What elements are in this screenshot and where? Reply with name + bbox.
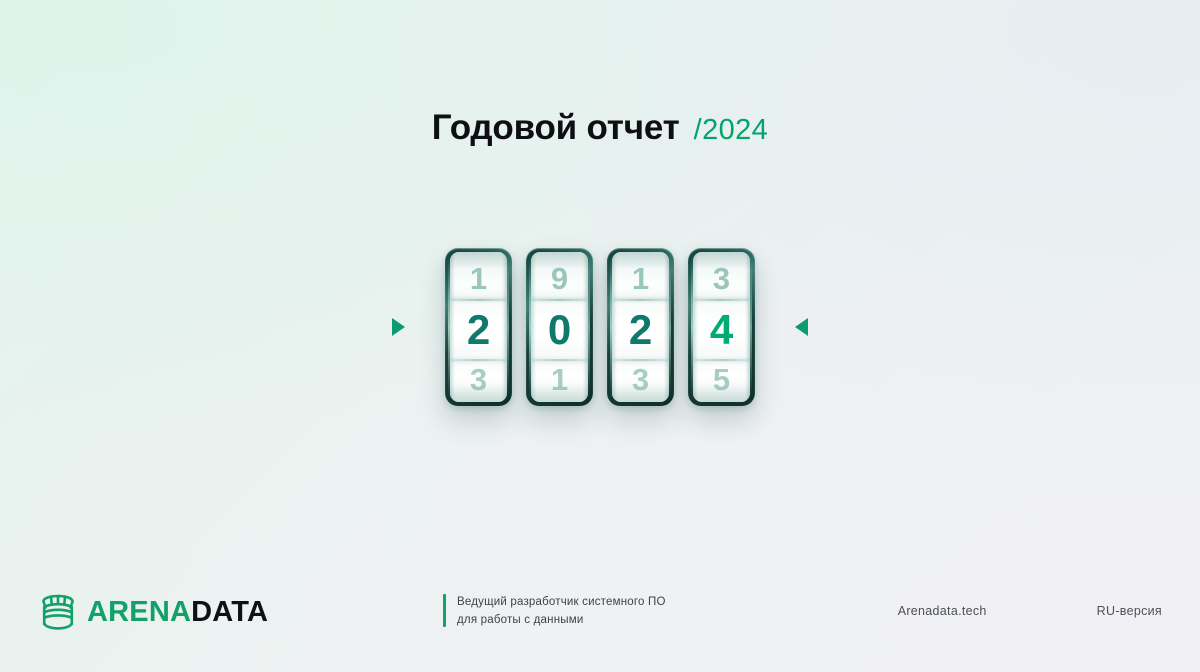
dial-seam bbox=[531, 359, 588, 361]
site-link[interactable]: Arenadata.tech bbox=[898, 604, 987, 618]
play-triangle-left-icon bbox=[795, 318, 808, 336]
dial-digit-next: 5 bbox=[693, 360, 750, 402]
language-switch[interactable]: RU-версия bbox=[1097, 604, 1162, 618]
logo-word-data: DATA bbox=[191, 596, 268, 628]
dial-digit-next: 3 bbox=[450, 360, 507, 402]
counter-dial[interactable]: 1 2 3 bbox=[607, 248, 674, 406]
logo-word-arena: ARENA bbox=[87, 596, 191, 628]
footer-tagline: Ведущий разработчик системного ПО для ра… bbox=[443, 594, 666, 630]
dial-digit-previous: 1 bbox=[450, 252, 507, 300]
arenadata-database-logo-icon bbox=[38, 592, 80, 632]
dial-digit-next: 1 bbox=[531, 360, 588, 402]
dial-seam bbox=[450, 299, 507, 301]
dial-digit-current: 2 bbox=[450, 300, 507, 360]
footer-meta: Arenadata.tech RU-версия bbox=[898, 604, 1162, 618]
play-triangle-right-icon bbox=[392, 318, 405, 336]
tagline-accent-bar bbox=[443, 594, 446, 627]
arenadata-logo[interactable]: ARENADATA bbox=[38, 592, 268, 632]
dial-seam bbox=[693, 299, 750, 301]
counter-dial[interactable]: 9 0 1 bbox=[526, 248, 593, 406]
dial-digit-previous: 3 bbox=[693, 252, 750, 300]
dial-digit-current: 4 bbox=[693, 300, 750, 360]
year-counter: 1 2 3 9 0 1 1 2 3 bbox=[0, 248, 1200, 406]
dial-seam bbox=[612, 359, 669, 361]
page-title-main: Годовой отчет bbox=[432, 108, 680, 148]
dial-seam bbox=[450, 359, 507, 361]
page-title: Годовой отчет /2024 bbox=[0, 108, 1200, 148]
logo-wordmark: ARENADATA bbox=[87, 598, 268, 627]
tagline-line-2: для работы с данными bbox=[457, 614, 583, 626]
counter-dial[interactable]: 1 2 3 bbox=[445, 248, 512, 406]
tagline-text: Ведущий разработчик системного ПО для ра… bbox=[457, 594, 666, 630]
dial-seam bbox=[612, 299, 669, 301]
dial-seam bbox=[693, 359, 750, 361]
tagline-line-1: Ведущий разработчик системного ПО bbox=[457, 596, 666, 608]
dial-digit-current: 2 bbox=[612, 300, 669, 360]
dial-digit-current: 0 bbox=[531, 300, 588, 360]
dial-seam bbox=[531, 299, 588, 301]
dial-digit-next: 3 bbox=[612, 360, 669, 402]
counter-dial[interactable]: 3 4 5 bbox=[688, 248, 755, 406]
dial-digit-previous: 1 bbox=[612, 252, 669, 300]
dial-digit-previous: 9 bbox=[531, 252, 588, 300]
page-footer: ARENADATA Ведущий разработчик системного… bbox=[0, 580, 1200, 672]
page-title-year: /2024 bbox=[694, 114, 769, 147]
counter-dial-group: 1 2 3 9 0 1 1 2 3 bbox=[445, 248, 755, 406]
